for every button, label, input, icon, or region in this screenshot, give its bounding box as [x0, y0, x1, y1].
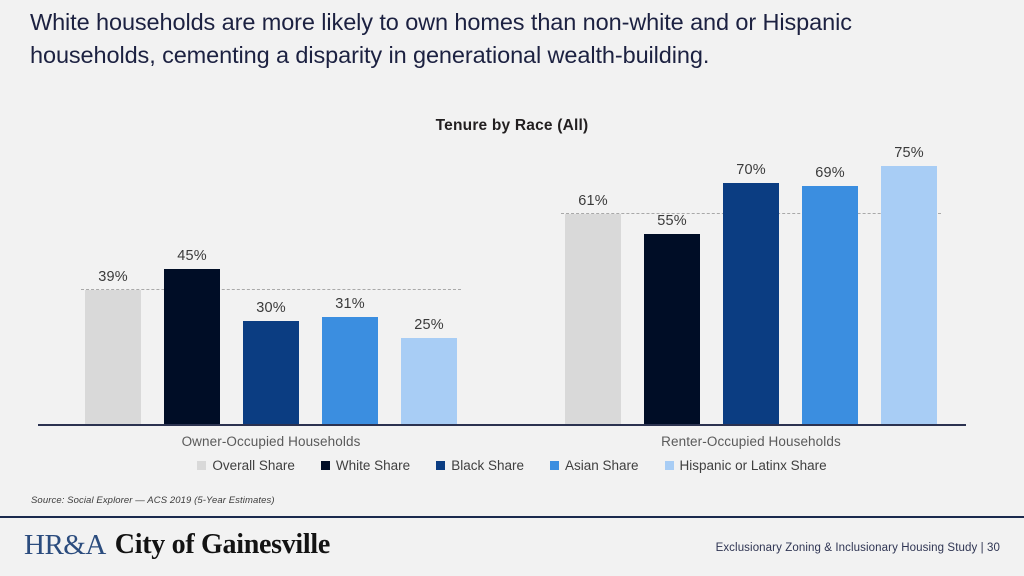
legend-label-overall-share: Overall Share [212, 458, 295, 473]
slide-headline: White households are more likely to own … [30, 6, 910, 72]
bar-owner-asian[interactable]: 31% [322, 317, 378, 424]
bar-renter-white[interactable]: 55% [644, 234, 700, 424]
bar-label-owner-hispanic: 25% [414, 317, 444, 333]
legend-item-black-share[interactable]: Black Share [436, 458, 524, 473]
bar-renter-black[interactable]: 70% [723, 183, 779, 424]
bar-label-owner-white: 45% [177, 248, 207, 264]
bar-owner-white[interactable]: 45% [164, 269, 220, 424]
slide-footer: HR&A City of Gainesville Exclusionary Zo… [0, 518, 1024, 576]
legend-swatch-asian-icon [550, 461, 559, 470]
legend-swatch-black-icon [436, 461, 445, 470]
brand-city-name: City of Gainesville [115, 529, 330, 561]
bar-group-owner-occupied: 39% 45% 30% 31% 25% Owner-Occupied House… [85, 100, 457, 424]
bar-label-renter-overall: 61% [578, 193, 608, 209]
bar-renter-hispanic[interactable]: 75% [881, 166, 937, 425]
legend-swatch-white-icon [321, 461, 330, 470]
legend-label-black-share: Black Share [451, 458, 524, 473]
bar-renter-asian[interactable]: 69% [802, 186, 858, 424]
hra-logo: HR&A [24, 529, 106, 562]
source-note: Source: Social Explorer — ACS 2019 (5-Ye… [31, 495, 275, 506]
legend-swatch-overall-icon [197, 461, 206, 470]
bar-owner-hispanic[interactable]: 25% [401, 338, 457, 424]
bar-label-owner-overall: 39% [98, 269, 128, 285]
axis-label-renter-occupied: Renter-Occupied Households [565, 434, 937, 449]
legend-label-asian-share: Asian Share [565, 458, 639, 473]
legend-label-hispanic-share: Hispanic or Latinx Share [680, 458, 827, 473]
legend-item-hispanic-share[interactable]: Hispanic or Latinx Share [665, 458, 827, 473]
chart-plot-area: 39% 45% 30% 31% 25% Owner-Occupied House… [0, 100, 1024, 440]
bar-renter-overall[interactable]: 61% [565, 214, 621, 424]
legend-label-white-share: White Share [336, 458, 410, 473]
bar-owner-black[interactable]: 30% [243, 321, 299, 424]
bar-label-renter-white: 55% [657, 213, 687, 229]
bar-label-renter-black: 70% [736, 162, 766, 178]
bar-group-renter-occupied: 61% 55% 70% 69% 75% Renter-Occupied Hous… [565, 100, 937, 424]
legend-item-asian-share[interactable]: Asian Share [550, 458, 639, 473]
legend-swatch-hispanic-icon [665, 461, 674, 470]
bar-label-renter-asian: 69% [815, 165, 845, 181]
legend-item-overall-share[interactable]: Overall Share [197, 458, 295, 473]
legend-item-white-share[interactable]: White Share [321, 458, 410, 473]
axis-label-owner-occupied: Owner-Occupied Households [85, 434, 457, 449]
chart-container: Tenure by Race (All) 39% 45% 30% 31% 25%… [0, 100, 1024, 490]
bar-label-owner-black: 30% [256, 300, 286, 316]
footer-study-title-and-page: Exclusionary Zoning & Inclusionary Housi… [716, 542, 1000, 554]
bar-label-renter-hispanic: 75% [894, 145, 924, 161]
chart-baseline-axis [38, 424, 966, 426]
bar-label-owner-asian: 31% [335, 296, 365, 312]
brand-lockup: HR&A City of Gainesville [24, 528, 330, 561]
bar-owner-overall[interactable]: 39% [85, 290, 141, 424]
chart-legend: Overall Share White Share Black Share As… [0, 458, 1024, 473]
